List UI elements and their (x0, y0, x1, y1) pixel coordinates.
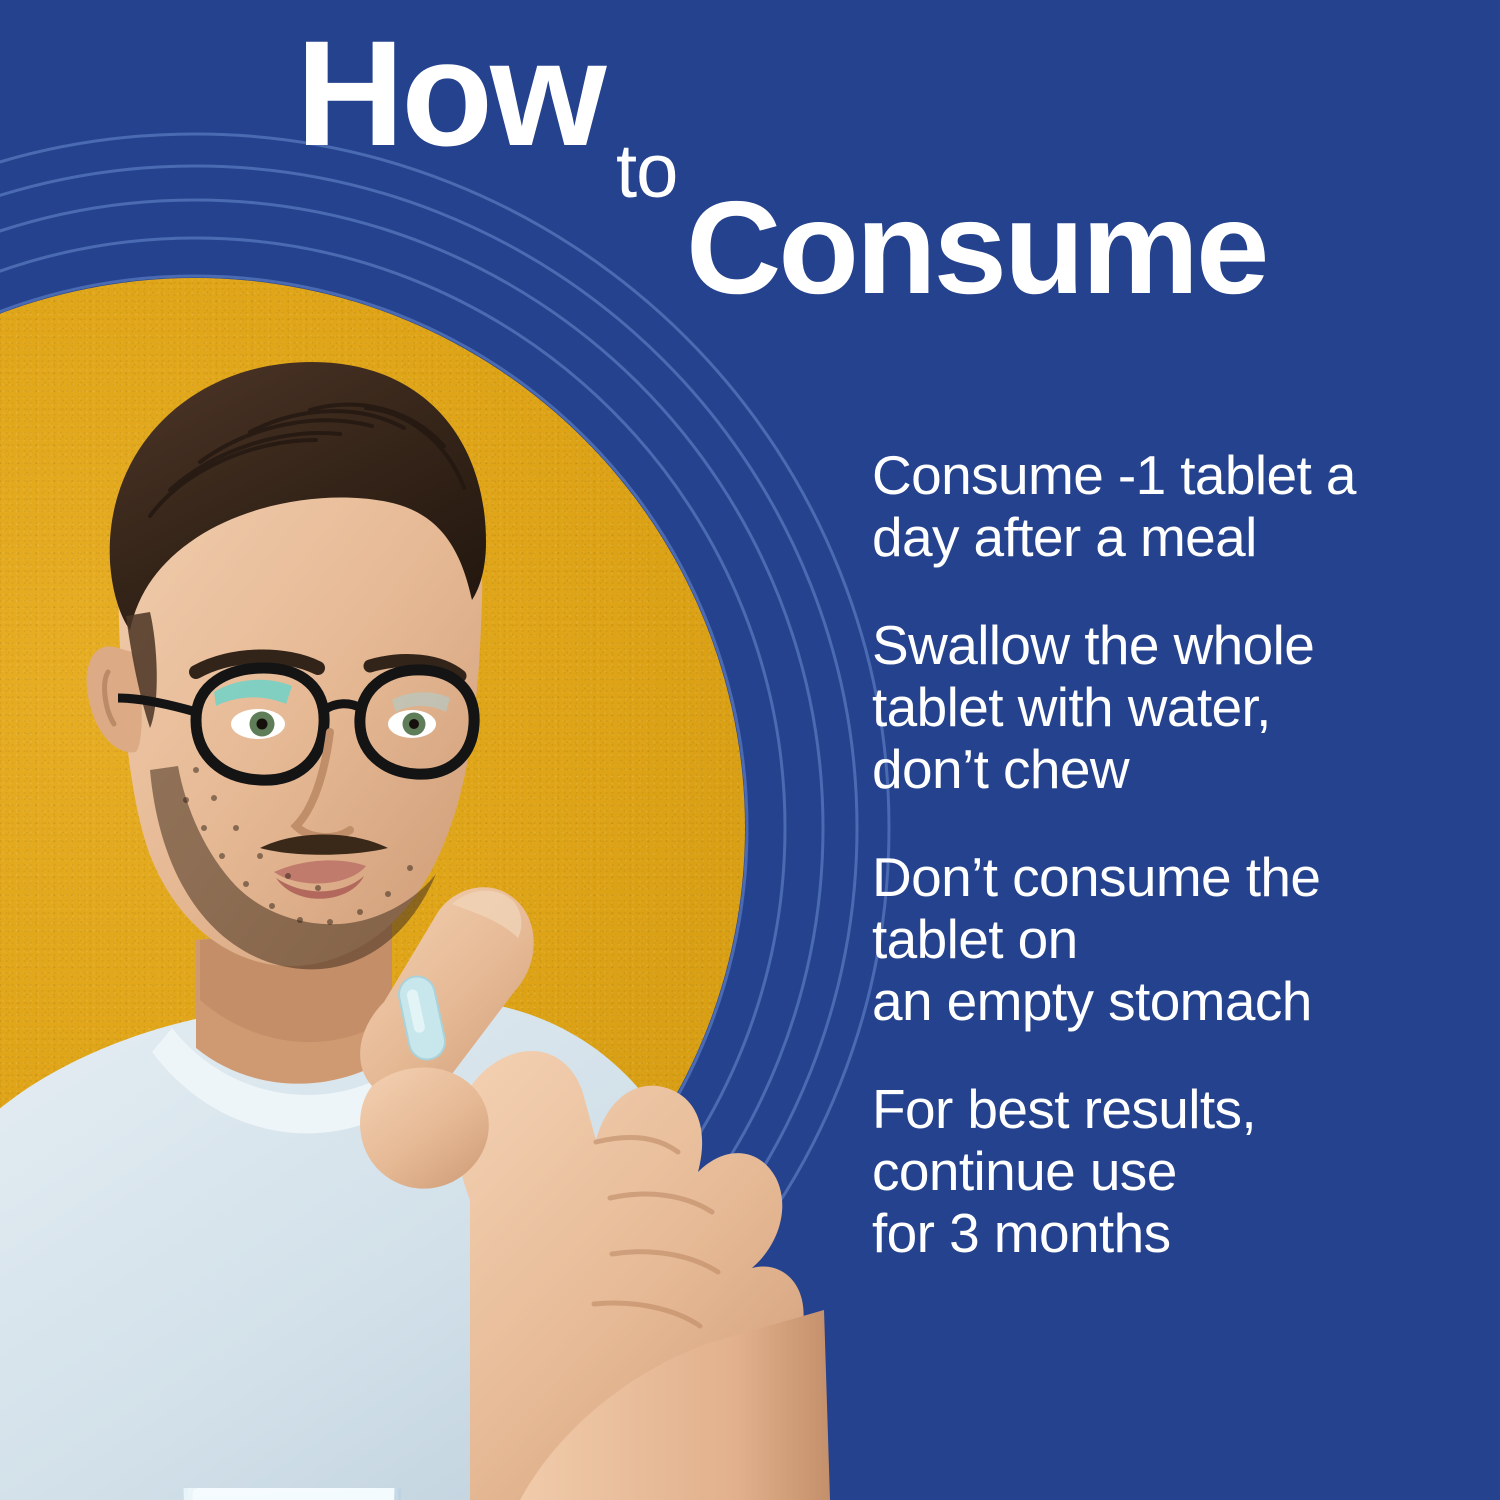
pupil-right (409, 719, 419, 729)
instruction-empty-stomach: Don’t consume the tablet on an empty sto… (872, 846, 1472, 1032)
headline-how: How (296, 18, 604, 168)
poster-canvas: How to Consume Consume -1 tablet a day a… (0, 0, 1500, 1500)
headline-to: to (616, 134, 677, 210)
instruction-duration: For best results, continue use for 3 mon… (872, 1078, 1472, 1264)
headline-consume: Consume (686, 182, 1266, 314)
man-taking-tablet-photo (0, 300, 830, 1500)
instructions-list: Consume -1 tablet a day after a meal Swa… (872, 444, 1472, 1264)
instruction-swallow: Swallow the whole tablet with water, don… (872, 614, 1472, 800)
headline: How to Consume (0, 0, 1500, 330)
pupil-left (257, 719, 268, 730)
instruction-dose: Consume -1 tablet a day after a meal (872, 444, 1472, 568)
water-glass (188, 1488, 398, 1500)
